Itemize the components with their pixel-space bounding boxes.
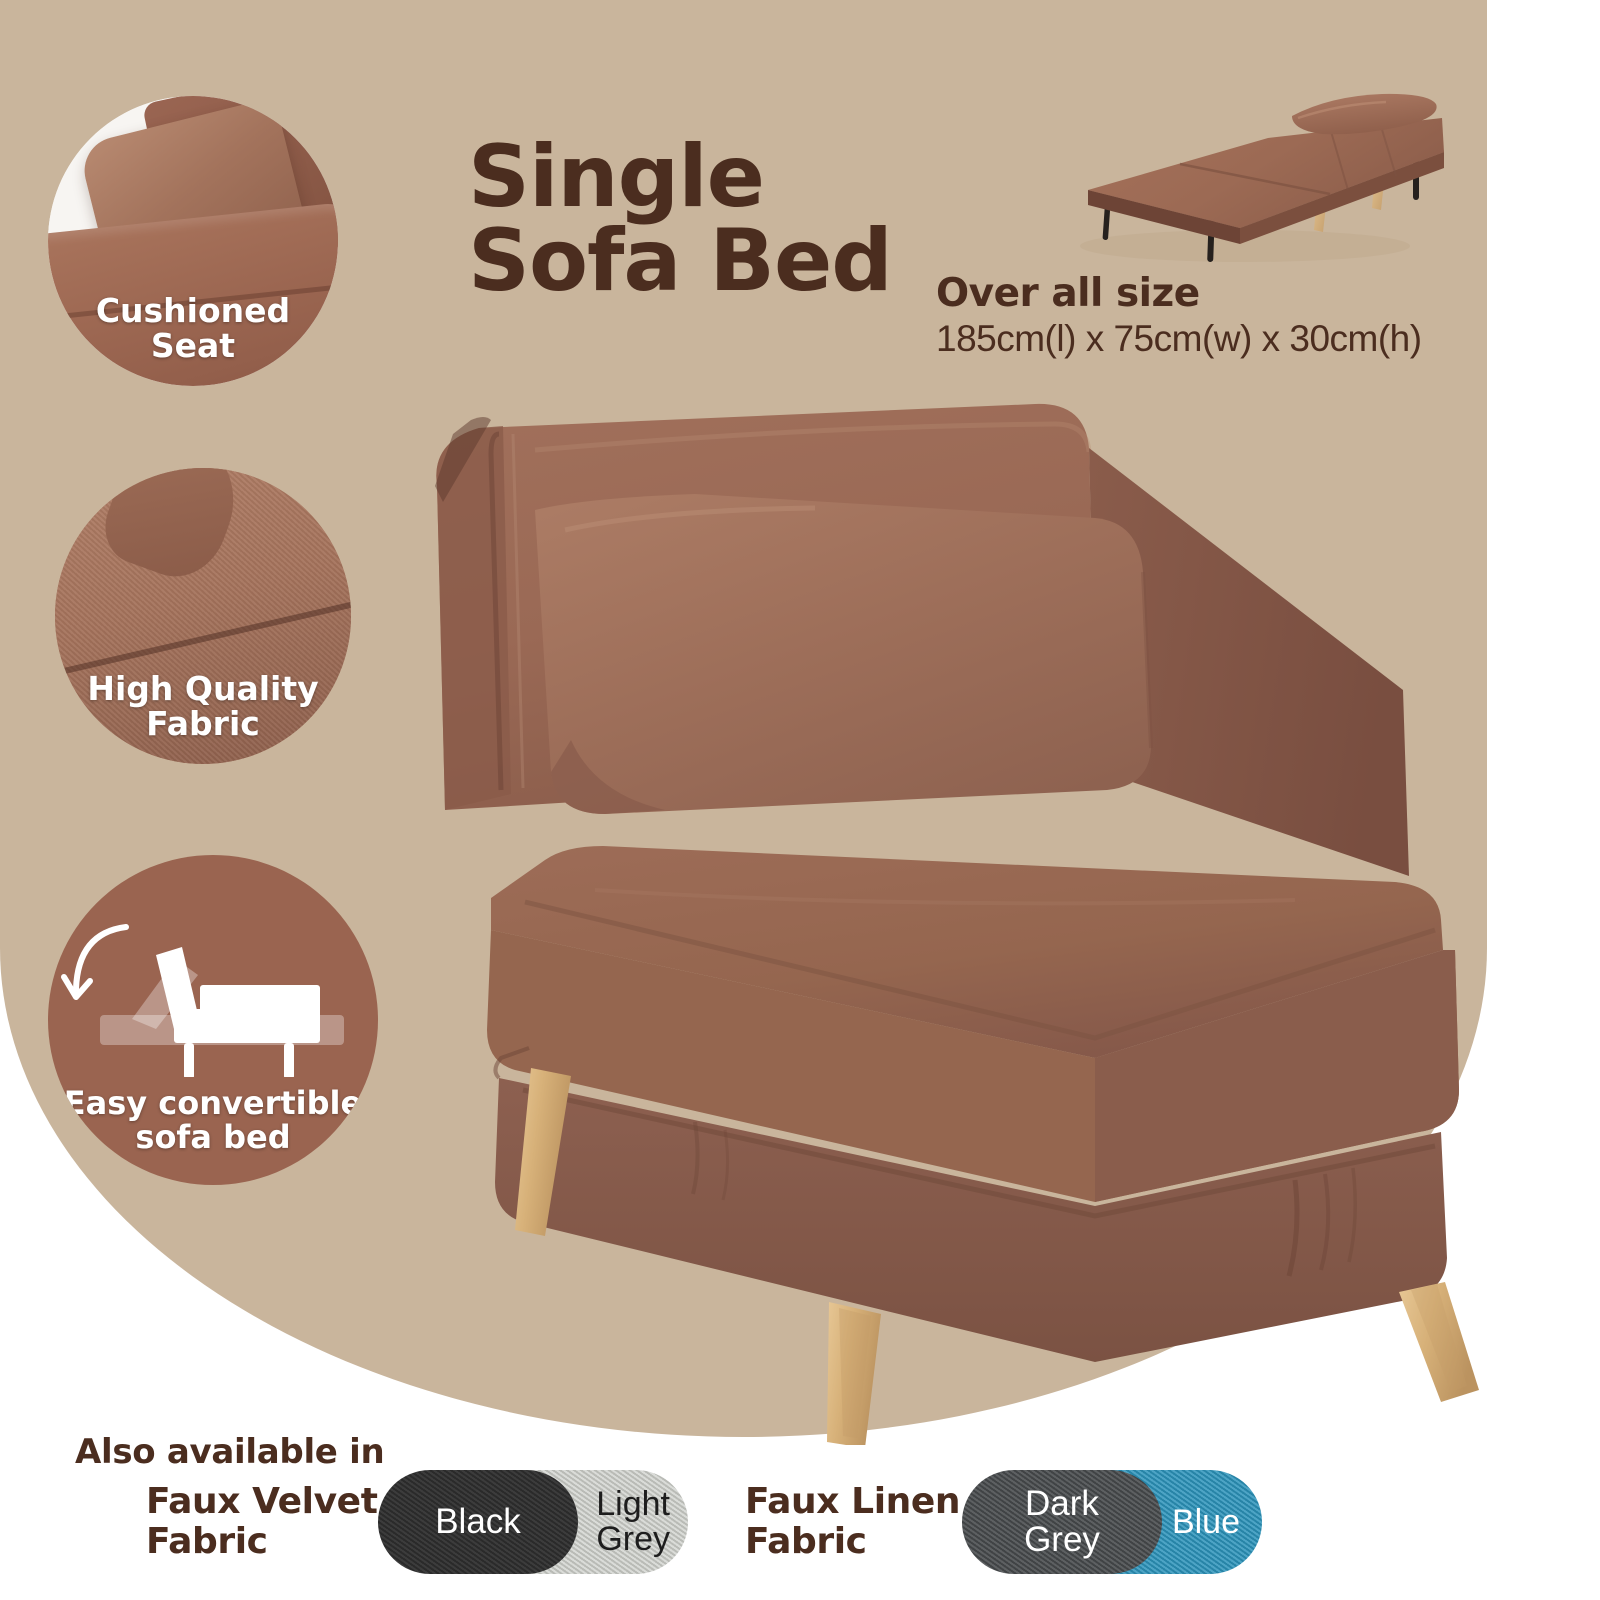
faux-linen-label: Faux Linen Fabric [745, 1482, 960, 1561]
swatch-dark-grey-line2: Grey [1024, 1520, 1100, 1559]
faux-linen-line1: Faux Linen [745, 1481, 960, 1522]
faux-velvet-line1: Faux Velvet [146, 1481, 378, 1522]
swatch-black[interactable]: Black [378, 1470, 578, 1574]
swatch-light-grey-line2: Grey [596, 1520, 670, 1558]
main-product-image [395, 390, 1570, 1445]
title-line-2: Sofa Bed [468, 219, 988, 303]
feature-caption: Easy convertible sofa bed [48, 1086, 378, 1155]
convertible-sofa-bed-icon [48, 897, 378, 1077]
faux-velvet-label: Faux Velvet Fabric [146, 1482, 378, 1561]
feature-caption-line1: High Quality [87, 669, 318, 708]
feature-easy-convertible: Easy convertible sofa bed [48, 855, 378, 1185]
feature-cushioned-seat: Cushioned Seat [48, 96, 338, 386]
faux-velvet-line2: Fabric [146, 1521, 268, 1562]
inset-bed-image [1030, 78, 1450, 283]
velvet-swatch-group: Light Grey Black [378, 1470, 688, 1574]
feature-caption-line2: Fabric [146, 704, 260, 743]
linen-swatch-group: Blue Dark Grey [962, 1470, 1262, 1574]
swatch-dark-grey-line1: Dark [1025, 1484, 1099, 1523]
feature-caption-line2: Seat [151, 326, 235, 365]
size-value: 185cm(l) x 75cm(w) x 30cm(h) [936, 317, 1456, 361]
title-line-1: Single [468, 135, 988, 219]
swatch-dark-grey[interactable]: Dark Grey [962, 1470, 1162, 1574]
feature-caption-line1: Easy convertible [64, 1084, 362, 1122]
feature-high-quality-fabric: High Quality Fabric [55, 468, 351, 764]
feature-caption: Cushioned Seat [48, 293, 338, 364]
swatch-blue-label: Blue [1172, 1503, 1240, 1541]
feature-caption: High Quality Fabric [55, 671, 351, 742]
feature-caption-line2: sofa bed [135, 1118, 290, 1156]
overall-size: Over all size 185cm(l) x 75cm(w) x 30cm(… [936, 272, 1456, 361]
page-title: Single Sofa Bed [468, 135, 988, 304]
faux-linen-line2: Fabric [745, 1521, 867, 1562]
swatch-light-grey-line1: Light [596, 1485, 670, 1523]
product-infographic: Single Sofa Bed Over all size 185cm(l) x… [0, 0, 1600, 1600]
feature-caption-line1: Cushioned [96, 291, 290, 330]
swatch-black-label: Black [435, 1502, 521, 1541]
also-available-label: Also available in [75, 1432, 384, 1472]
